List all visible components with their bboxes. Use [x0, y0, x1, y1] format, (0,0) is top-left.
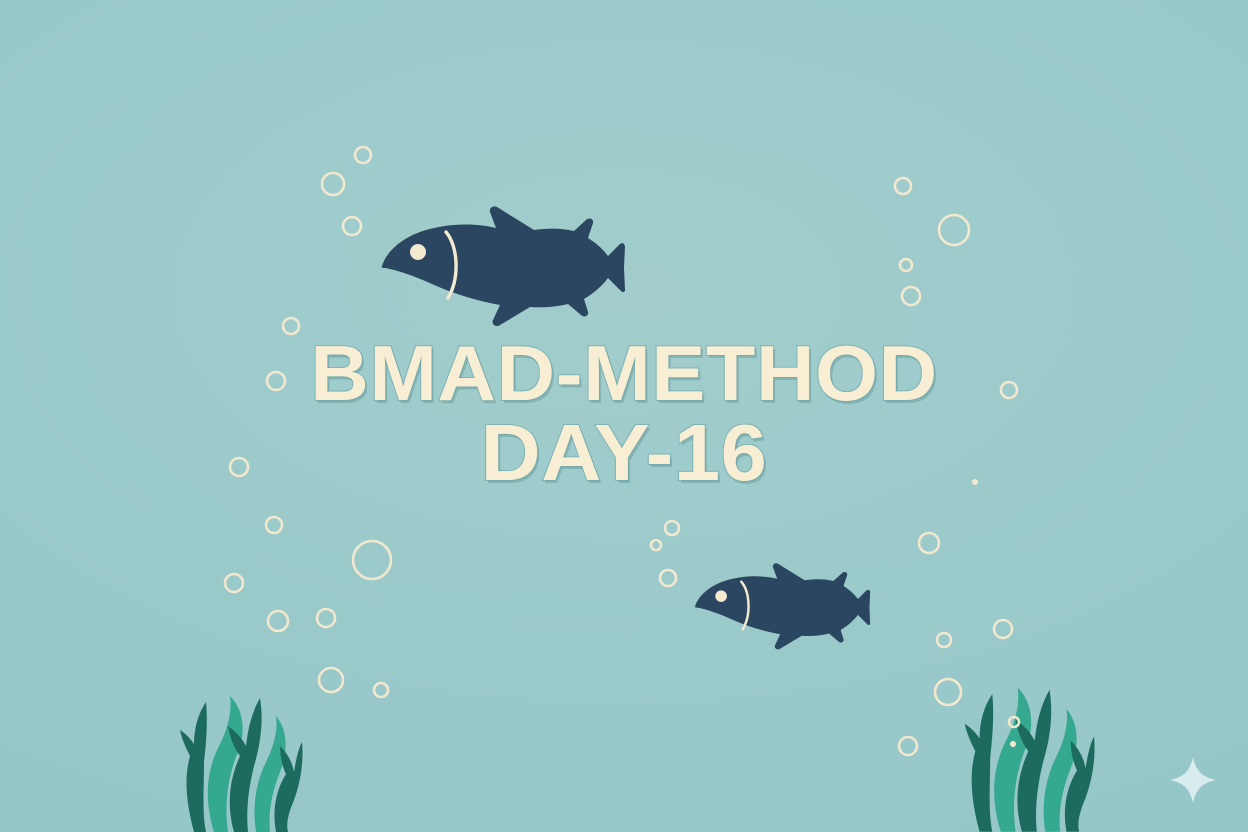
bubble	[899, 737, 917, 755]
bubble	[230, 458, 248, 476]
bubble	[972, 479, 978, 485]
bubble	[322, 173, 344, 195]
bubble	[660, 570, 676, 586]
bubble	[266, 517, 282, 533]
bubble	[353, 541, 391, 579]
bubble	[902, 287, 920, 305]
sparkle-star-icon	[1170, 757, 1216, 803]
bubble	[374, 683, 388, 697]
bubble	[355, 147, 371, 163]
bubble	[1010, 741, 1016, 747]
bubble	[267, 372, 285, 390]
bubble	[939, 215, 969, 245]
underwater-banner-scene: BMAD-METHOD DAY-16	[0, 0, 1248, 832]
seaweed-left	[180, 696, 303, 832]
bubble	[935, 679, 961, 705]
small-fish	[695, 563, 870, 649]
large-fish	[382, 206, 625, 326]
bubble	[900, 259, 912, 271]
bubble	[268, 611, 288, 631]
bubble	[283, 318, 299, 334]
bubble	[317, 609, 335, 627]
bubble	[319, 668, 343, 692]
bubble	[343, 217, 361, 235]
bubble	[895, 178, 911, 194]
bubble	[225, 574, 243, 592]
seaweed-right	[965, 688, 1095, 832]
bubble	[937, 633, 951, 647]
bubble	[651, 540, 661, 550]
bubble-field	[225, 147, 1019, 755]
bubble	[665, 521, 679, 535]
bubble	[919, 533, 939, 553]
bubble	[994, 620, 1012, 638]
bubble	[1001, 382, 1017, 398]
scene-artwork	[0, 0, 1248, 832]
